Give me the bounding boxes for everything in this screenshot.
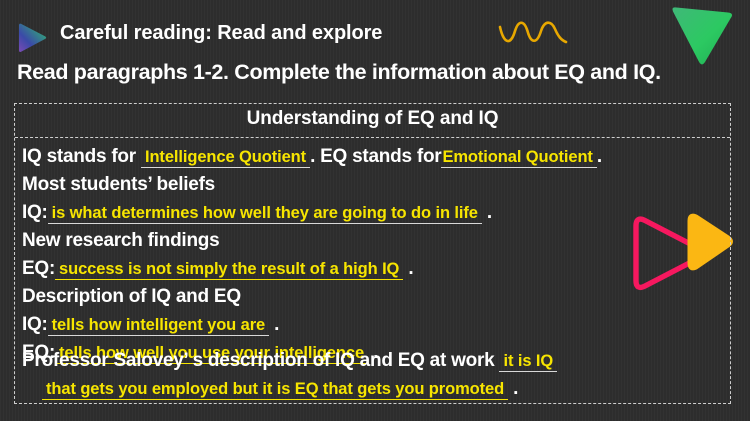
heading-professor-salovey: Professor Salovey’ s description of IQ a… [22,350,494,371]
text-line-2: Most students’ beliefs [22,174,215,196]
line1-label-a: IQ stands for [22,146,136,167]
answer-intelligence-quotient[interactable]: Intelligence Quotient [141,148,310,168]
text-line-10: that gets you employed but it is EQ that… [42,378,518,400]
heading-new-research-findings: New research findings [22,230,219,251]
text-line-4: New research findings [22,230,219,252]
line10-period: . [513,378,518,399]
text-line-1: IQ stands for Intelligence Quotient. EQ … [22,146,602,168]
line7-period: . [274,314,279,335]
label-iq-description: IQ: [22,314,48,335]
sine-wave-icon [497,20,573,46]
text-line-7: IQ:tells how intelligent you are . [22,314,279,336]
panel-title: Understanding of EQ and IQ [15,108,730,130]
text-line-6: Description of IQ and EQ [22,286,241,308]
answer-eq-findings[interactable]: success is not simply the result of a hi… [55,260,403,280]
label-eq-findings: EQ: [22,258,55,279]
label-iq-beliefs: IQ: [22,202,48,223]
page-subtitle: Read paragraphs 1-2. Complete the inform… [17,60,661,85]
slide-canvas: Careful reading: Read and explore Read p… [0,0,750,421]
answer-salovey-part2[interactable]: that gets you employed but it is EQ that… [42,380,508,400]
heading-description-of-iq-and-eq: Description of IQ and EQ [22,286,241,307]
content-panel: Understanding of EQ and IQ IQ stands for… [14,103,731,404]
text-line-3: IQ:is what determines how well they are … [22,202,492,224]
panel-divider [15,137,730,138]
line5-period: . [408,258,413,279]
answer-iq-beliefs[interactable]: is what determines how well they are goi… [48,204,482,224]
heading-most-students-beliefs: Most students’ beliefs [22,174,215,195]
text-line-5: EQ:success is not simply the result of a… [22,258,413,280]
answer-salovey-part1[interactable]: it is IQ [499,352,557,372]
green-triangle-icon [666,5,738,69]
line3-period: . [487,202,492,223]
line1-label-b: . EQ stands for [310,146,441,167]
play-triangle-logo-icon [14,20,50,56]
page-title: Careful reading: Read and explore [60,22,382,45]
answer-emotional-quotient[interactable]: Emotional Quotient [441,148,596,168]
line1-period: . [597,146,602,167]
answer-iq-description[interactable]: tells how intelligent you are [48,316,269,336]
text-line-9: Professor Salovey’ s description of IQ a… [22,350,557,372]
